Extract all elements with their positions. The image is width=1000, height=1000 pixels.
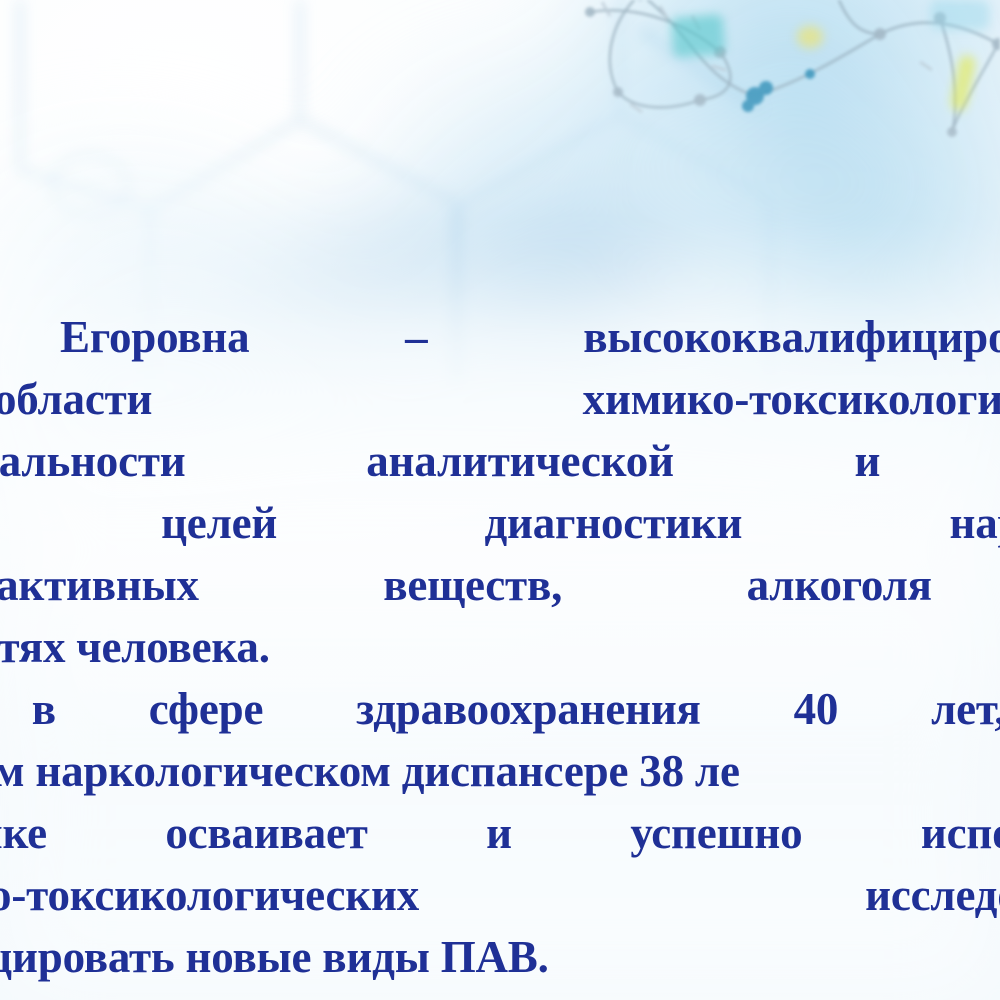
text-line-7: ты в сфере здравоохранения 40 лет, из bbox=[0, 678, 1000, 740]
word: в bbox=[32, 678, 56, 740]
word: диагностики bbox=[484, 492, 742, 554]
paragraph-1: а Егоровна – высококвалифицированны обла… bbox=[0, 306, 1000, 678]
word: исследований bbox=[865, 864, 1000, 926]
text-line-9: рактике осваивает и успешно использует bbox=[0, 802, 1000, 864]
word: тифицировать новые виды ПАВ. bbox=[0, 926, 549, 988]
word: – bbox=[405, 306, 427, 368]
word: имико-токсикологических bbox=[0, 864, 419, 926]
text-line-2: области химико-токсикологических bbox=[0, 368, 1000, 430]
word: сфере bbox=[149, 678, 264, 740]
word: и bbox=[486, 802, 512, 864]
word: идкостях человека. bbox=[0, 616, 270, 678]
word: специальности bbox=[0, 430, 186, 492]
word: психоактивных bbox=[0, 554, 199, 616]
word: высококвалифицированны bbox=[583, 306, 1000, 368]
word: ческом наркологическом диспансере 38 ле bbox=[0, 740, 740, 802]
word: осваивает bbox=[165, 802, 367, 864]
text-line-1: а Егоровна – высококвалифицированны bbox=[0, 306, 1000, 368]
paragraph-2: ты в сфере здравоохранения 40 лет, из че… bbox=[0, 678, 1000, 988]
word: области bbox=[0, 368, 152, 430]
word: веществ, bbox=[383, 554, 562, 616]
text-line-3: специальности аналитической и суде bbox=[0, 430, 1000, 492]
text-line-10: имико-токсикологических исследований bbox=[0, 864, 1000, 926]
text-line-4: для целей диагностики наркотич bbox=[0, 492, 1000, 554]
word: и bbox=[855, 430, 881, 492]
word: химико-токсикологических bbox=[583, 368, 1000, 430]
text-line-11: тифицировать новые виды ПАВ. bbox=[0, 926, 1000, 988]
word: здравоохранения bbox=[356, 678, 701, 740]
word: наркотич bbox=[949, 492, 1000, 554]
word: аналитической bbox=[366, 430, 674, 492]
word: Егоровна bbox=[60, 306, 249, 368]
word: лет, bbox=[931, 678, 1000, 740]
text-line-6: идкостях человека. bbox=[0, 616, 1000, 678]
word: использует bbox=[921, 802, 1000, 864]
word: целей bbox=[161, 492, 277, 554]
word: рактике bbox=[0, 802, 47, 864]
word: 40 bbox=[794, 678, 839, 740]
text-line-8: ческом наркологическом диспансере 38 ле bbox=[0, 740, 1000, 802]
word: алкоголя bbox=[747, 554, 932, 616]
slide-text-block: а Егоровна – высококвалифицированны обла… bbox=[0, 0, 1000, 1000]
text-line-5: психоактивных веществ, алкоголя и bbox=[0, 554, 1000, 616]
word: успешно bbox=[630, 802, 802, 864]
slide-canvas: а Егоровна – высококвалифицированны обла… bbox=[0, 0, 1000, 1000]
